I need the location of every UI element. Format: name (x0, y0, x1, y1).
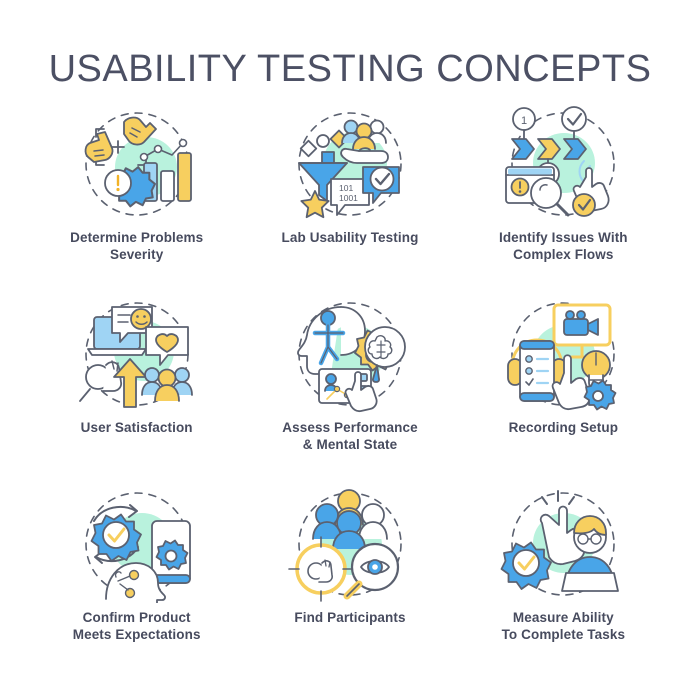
check-circle-icon (573, 194, 595, 216)
hand-open-icon (341, 148, 388, 163)
concept-card-recording-setup[interactable]: Recording Setup (457, 295, 670, 485)
thumbs-up-hand-icon (85, 132, 112, 162)
label-line-2: Meets Expectations (73, 627, 201, 642)
label-line-2: & Mental State (303, 437, 397, 452)
label-line-1: Confirm Product (83, 610, 191, 625)
concept-card-lab-usability-testing[interactable]: 101 1001 Lab Usability Testing (243, 105, 456, 295)
page-title: USABILITY TESTING CONCEPTS (0, 48, 700, 91)
concept-card-find-participants[interactable]: Find Participants (243, 485, 456, 675)
concept-icon-assess-performance-mental-state (285, 295, 415, 413)
concept-card-determine-problems-severity[interactable]: Determine Problems Severity (30, 105, 243, 295)
concept-card-confirm-product-meets-expectations[interactable]: Confirm Product Meets Expectations (30, 485, 243, 675)
step-badge-1-icon: 1 (513, 108, 535, 138)
arrow-chevron-icon (512, 139, 586, 159)
label-line-2: Complex Flows (513, 247, 613, 262)
label-line-1: Lab Usability Testing (282, 230, 419, 245)
concept-icon-lab-usability-testing: 101 1001 (285, 105, 415, 223)
concept-icon-identify-issues-with-complex-flows: 1 2 (498, 105, 628, 223)
label-line-2: Severity (110, 247, 163, 262)
label-line-1: Identify Issues With (499, 230, 628, 245)
poster-root: USABILITY TESTING CONCEPTS (0, 0, 700, 700)
label-line-1: Measure Ability (513, 610, 614, 625)
label-line-1: User Satisfaction (81, 420, 193, 435)
phone-gear-icon (152, 521, 190, 583)
concept-label-measure-ability-to-complete-tasks: Measure Ability To Complete Tasks (502, 609, 625, 643)
concept-label-identify-issues-with-complex-flows: Identify Issues With Complex Flows (499, 229, 628, 263)
concept-label-find-participants: Find Participants (294, 609, 405, 626)
phone-checklist-icon (520, 341, 554, 401)
concept-icon-determine-problems-severity (72, 105, 202, 223)
ok-hand-icon (80, 361, 121, 401)
concept-icon-measure-ability-to-complete-tasks (498, 485, 628, 603)
svg-text:1: 1 (521, 115, 527, 127)
svg-text:101: 101 (339, 183, 353, 193)
concept-card-identify-issues-with-complex-flows[interactable]: 1 2 (457, 105, 670, 295)
concept-icon-recording-setup (498, 295, 628, 413)
concept-label-lab-usability-testing: Lab Usability Testing (282, 229, 419, 246)
label-line-1: Recording Setup (509, 420, 619, 435)
svg-text:1001: 1001 (339, 193, 358, 203)
concept-card-user-satisfaction[interactable]: User Satisfaction (30, 295, 243, 485)
people-group-icon (142, 368, 192, 401)
label-line-1: Determine Problems (70, 230, 203, 245)
concept-icon-user-satisfaction (72, 295, 202, 413)
concept-icon-find-participants (285, 485, 415, 603)
label-line-2: To Complete Tasks (502, 627, 625, 642)
concept-label-user-satisfaction: User Satisfaction (81, 419, 193, 436)
concepts-grid: Determine Problems Severity (30, 105, 670, 675)
gear-check-icon (502, 543, 552, 590)
concept-label-assess-performance-mental-state: Assess Performance & Mental State (282, 419, 417, 453)
concept-label-confirm-product-meets-expectations: Confirm Product Meets Expectations (73, 609, 201, 643)
concept-card-measure-ability-to-complete-tasks[interactable]: Measure Ability To Complete Tasks (457, 485, 670, 675)
concept-card-assess-performance-mental-state[interactable]: Assess Performance & Mental State (243, 295, 456, 485)
concept-label-determine-problems-severity: Determine Problems Severity (70, 229, 203, 263)
concept-label-recording-setup: Recording Setup (509, 419, 619, 436)
label-line-1: Assess Performance (282, 420, 417, 435)
label-line-1: Find Participants (294, 610, 405, 625)
concept-icon-confirm-product-meets-expectations (72, 485, 202, 603)
